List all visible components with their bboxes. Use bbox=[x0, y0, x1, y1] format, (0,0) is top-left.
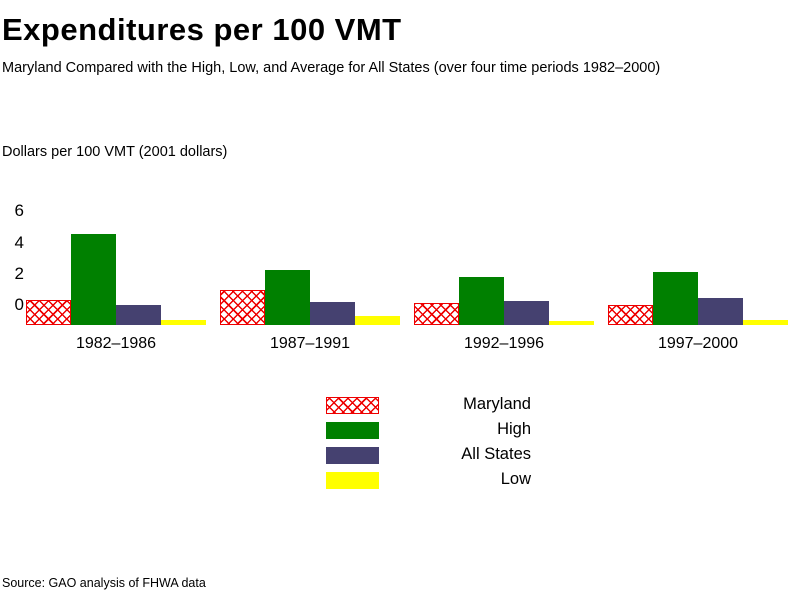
bar-low[interactable] bbox=[743, 320, 788, 325]
y-axis-unit-label: Dollars per 100 VMT (2001 dollars) bbox=[2, 144, 227, 160]
chart-subtitle: Maryland Compared with the High, Low, an… bbox=[2, 60, 660, 76]
bars-row bbox=[414, 225, 594, 325]
legend-label: Maryland bbox=[386, 395, 531, 414]
legend-item[interactable]: High bbox=[326, 421, 526, 446]
bars-row bbox=[220, 225, 400, 325]
bar-group bbox=[608, 225, 788, 325]
bar-low[interactable] bbox=[549, 321, 594, 325]
y-tick-label: 6 bbox=[0, 202, 24, 219]
bars-row bbox=[26, 225, 206, 325]
legend-swatch-maryland bbox=[326, 397, 379, 414]
x-axis-group-label: 1982–1986 bbox=[16, 335, 216, 353]
legend-swatch-high bbox=[326, 422, 379, 439]
bar-maryland[interactable] bbox=[26, 300, 71, 325]
y-tick-label: 2 bbox=[0, 265, 24, 282]
plot-area: 0246 1982–19861987–19911992–19961997–200… bbox=[0, 210, 800, 355]
legend-item[interactable]: Low bbox=[326, 471, 526, 496]
legend-item[interactable]: Maryland bbox=[326, 396, 526, 421]
x-axis-group-label: 1992–1996 bbox=[404, 335, 604, 353]
bar-all-states[interactable] bbox=[310, 302, 355, 325]
page-title: Expenditures per 100 VMT bbox=[2, 12, 402, 48]
y-tick-label: 4 bbox=[0, 234, 24, 251]
bar-high[interactable] bbox=[459, 277, 504, 325]
bar-high[interactable] bbox=[265, 270, 310, 325]
y-axis: 0246 bbox=[0, 210, 24, 335]
bar-maryland[interactable] bbox=[220, 290, 265, 325]
bar-group bbox=[220, 225, 400, 325]
bar-maryland[interactable] bbox=[608, 305, 653, 325]
bar-all-states[interactable] bbox=[116, 305, 161, 325]
bars-row bbox=[608, 225, 788, 325]
chart-legend: MarylandHighAll StatesLow bbox=[326, 396, 526, 496]
bar-low[interactable] bbox=[355, 316, 400, 325]
bar-high[interactable] bbox=[653, 272, 698, 325]
bar-maryland[interactable] bbox=[414, 303, 459, 325]
legend-label: Low bbox=[386, 470, 531, 489]
bar-all-states[interactable] bbox=[504, 301, 549, 325]
legend-item[interactable]: All States bbox=[326, 446, 526, 471]
legend-label: High bbox=[386, 420, 531, 439]
bar-high[interactable] bbox=[71, 234, 116, 325]
source-note: Source: GAO analysis of FHWA data bbox=[2, 576, 206, 590]
x-axis-group-label: 1987–1991 bbox=[210, 335, 410, 353]
legend-label: All States bbox=[386, 445, 531, 464]
bar-low[interactable] bbox=[161, 320, 206, 325]
x-axis-group-label: 1997–2000 bbox=[598, 335, 798, 353]
legend-swatch-low bbox=[326, 472, 379, 489]
bar-group bbox=[414, 225, 594, 325]
bar-all-states[interactable] bbox=[698, 298, 743, 325]
bar-group bbox=[26, 225, 206, 325]
legend-swatch-all-states bbox=[326, 447, 379, 464]
y-tick-label: 0 bbox=[0, 296, 24, 313]
